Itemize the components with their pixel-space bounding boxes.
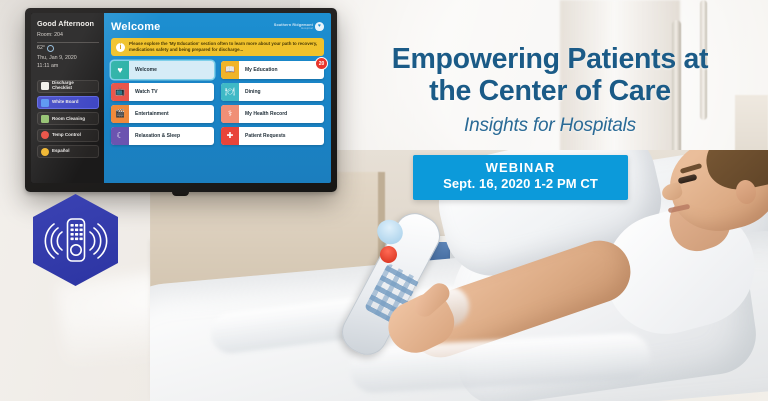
- menu-tile-grid: ♥ Welcome 📖 My Education 20 📺 Watch TV 🍽: [111, 61, 324, 145]
- language-icon: [41, 148, 49, 156]
- tile-my-education[interactable]: 📖 My Education 20: [221, 61, 324, 79]
- tv-remote-signal-icon: [33, 194, 118, 286]
- hospital-logo-mark: ♥: [315, 22, 324, 31]
- tile-relaxation-and-sleep[interactable]: ☾ Relaxation & Sleep: [111, 127, 214, 145]
- tile-label: Relaxation & Sleep: [129, 133, 180, 139]
- health-chart-icon: ⚕: [221, 105, 239, 123]
- webinar-label: WEBINAR: [417, 161, 624, 176]
- sidebar-item-label: Temp Control: [52, 133, 81, 138]
- hospital-subname: Hospital: [301, 27, 313, 30]
- divider: [37, 42, 99, 43]
- tile-label: Dining: [239, 89, 261, 95]
- sidebar-item-white-board[interactable]: White Board: [37, 96, 99, 109]
- sidebar-item-label: Discharge Checklist: [52, 81, 95, 90]
- info-icon: i: [116, 43, 125, 52]
- page-headline: Empowering Patients at the Center of Car…: [338, 44, 762, 108]
- thermostat-icon: [41, 131, 49, 139]
- heart-hands-icon: ♥: [111, 61, 129, 79]
- room-info: Room: 204 62° Thu, Jan 9, 2020 11:11 am: [37, 32, 99, 71]
- tile-label: Patient Requests: [239, 133, 286, 139]
- television-icon: 📺: [111, 83, 129, 101]
- alert-text: Please explore the 'My Education' sectio…: [129, 41, 319, 53]
- greeting-text: Good Afternoon: [37, 19, 99, 28]
- webinar-badge[interactable]: WEBINAR Sept. 16, 2020 1-2 PM CT: [413, 155, 628, 200]
- sidebar-button-list: Discharge Checklist White Board Room Cle…: [37, 80, 99, 159]
- sidebar-item-room-cleaning[interactable]: Room Cleaning: [37, 112, 99, 125]
- room-number: Room: 204: [37, 32, 99, 40]
- tile-label: Entertainment: [129, 111, 169, 117]
- tile-patient-requests[interactable]: ✚ Patient Requests: [221, 127, 324, 145]
- headline-line-2: the Center of Care: [429, 75, 671, 107]
- sidebar-item-label: Español: [52, 149, 70, 154]
- television: Good Afternoon Room: 204 62° Thu, Jan 9,…: [25, 8, 337, 192]
- tile-welcome[interactable]: ♥ Welcome: [111, 61, 214, 79]
- hospital-logo: Southern Ridgemont Hospital ♥: [274, 22, 324, 31]
- sidebar-item-espanol[interactable]: Español: [37, 145, 99, 158]
- hospital-logo-text: Southern Ridgemont Hospital: [274, 23, 313, 30]
- current-time: 11:11 am: [37, 63, 99, 71]
- status-badge: 20: [315, 57, 328, 70]
- sidebar-item-label: White Board: [52, 100, 79, 105]
- headline-line-1: Empowering Patients at: [392, 43, 708, 75]
- page-title: Welcome: [111, 21, 161, 33]
- first-aid-icon: ✚: [221, 127, 239, 145]
- clapboard-icon: 🎬: [111, 105, 129, 123]
- weather-icon: [47, 45, 54, 52]
- tile-label: Watch TV: [129, 89, 158, 95]
- tile-dining[interactable]: 🍽 Dining: [221, 83, 324, 101]
- remote-badge: [33, 194, 118, 286]
- clipboard-icon: [41, 82, 49, 90]
- tv-sidebar: Good Afternoon Room: 204 62° Thu, Jan 9,…: [31, 13, 104, 183]
- spray-bottle-icon: [41, 115, 49, 123]
- tile-watch-tv[interactable]: 📺 Watch TV: [111, 83, 214, 101]
- books-icon: 📖: [221, 61, 239, 79]
- tile-label: My Education: [239, 67, 278, 73]
- temperature-value: 62°: [37, 45, 45, 53]
- tv-header: Welcome Southern Ridgemont Hospital ♥: [111, 19, 324, 34]
- tile-label: Welcome: [129, 67, 157, 73]
- tv-main-panel: Welcome Southern Ridgemont Hospital ♥ i …: [104, 13, 331, 183]
- education-alert-banner: i Please explore the 'My Education' sect…: [111, 38, 324, 56]
- tile-label: My Health Record: [239, 111, 287, 117]
- sidebar-item-label: Room Cleaning: [52, 117, 85, 122]
- sidebar-item-discharge-checklist[interactable]: Discharge Checklist: [37, 80, 99, 93]
- current-date: Thu, Jan 9, 2020: [37, 55, 99, 63]
- plate-icon: 🍽: [221, 83, 239, 101]
- temperature-row: 62°: [37, 45, 99, 53]
- tile-my-health-record[interactable]: ⚕ My Health Record: [221, 105, 324, 123]
- page-subheadline: Insights for Hospitals: [338, 115, 762, 137]
- moon-stars-icon: ☾: [111, 127, 129, 145]
- sidebar-item-temp-control[interactable]: Temp Control: [37, 129, 99, 142]
- tile-entertainment[interactable]: 🎬 Entertainment: [111, 105, 214, 123]
- promo-banner: Good Afternoon Room: 204 62° Thu, Jan 9,…: [0, 0, 768, 401]
- tv-screen: Good Afternoon Room: 204 62° Thu, Jan 9,…: [31, 13, 331, 183]
- whiteboard-icon: [41, 99, 49, 107]
- webinar-date: Sept. 16, 2020 1-2 PM CT: [417, 176, 624, 193]
- heart-icon: ♥: [318, 24, 321, 29]
